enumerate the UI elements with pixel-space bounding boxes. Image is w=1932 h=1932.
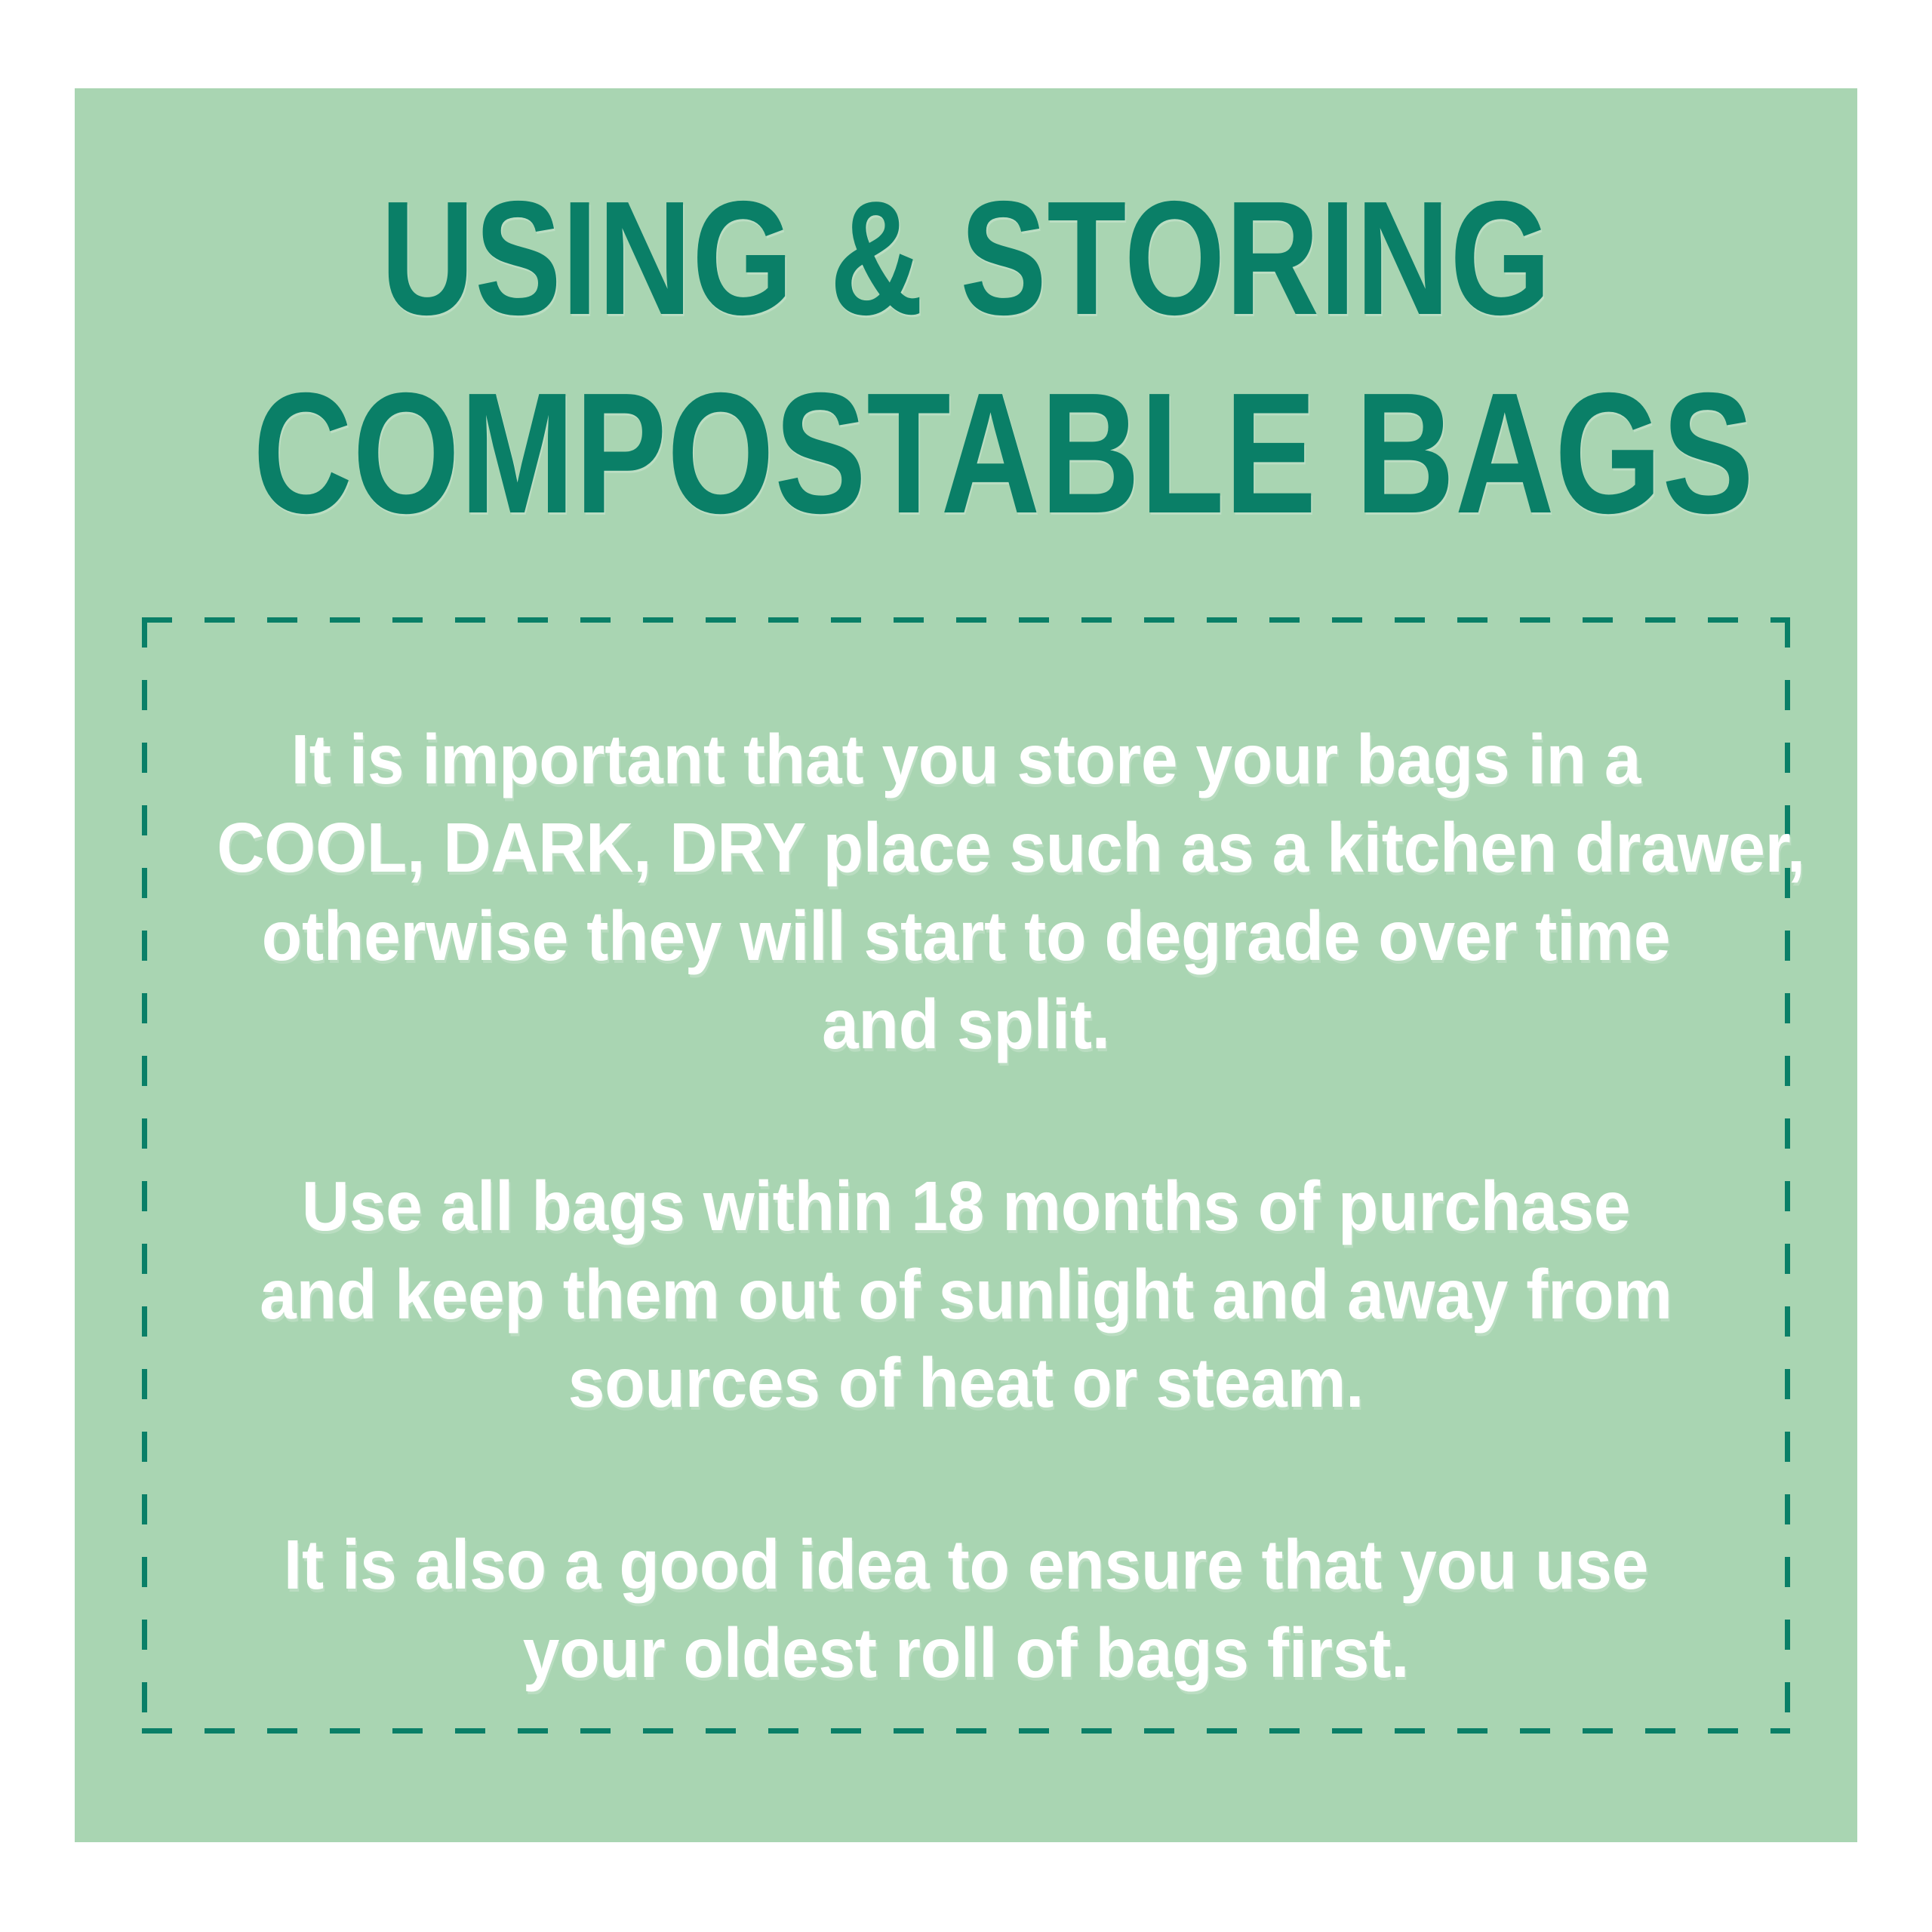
paragraph-line: It is also a good idea to ensure that yo… — [217, 1521, 1715, 1609]
page-title: USING & STORING COMPOSTABLE BAGS — [75, 164, 1857, 555]
poster-canvas: USING & STORING COMPOSTABLE BAGS It is i… — [0, 0, 1932, 1932]
paragraph-line: otherwise they will start to degrade ove… — [217, 892, 1715, 980]
paragraph-line: It is important that you store your bags… — [217, 715, 1715, 804]
paragraph-line: sources of heat or steam. — [217, 1339, 1715, 1427]
paragraph-line: COOL, DARK, DRY place such as a kitchen … — [217, 804, 1715, 892]
paragraph-shelf-life: Use all bags within 18 months of purchas… — [217, 1162, 1715, 1427]
paragraph-line: and split. — [217, 980, 1715, 1069]
paragraph-line: your oldest roll of bags first. — [217, 1609, 1715, 1697]
dashed-content-box: It is important that you store your bags… — [142, 617, 1790, 1734]
paragraph-line: Use all bags within 18 months of purchas… — [217, 1162, 1715, 1251]
page-title-line-1: USING & STORING — [253, 164, 1679, 352]
paragraph-storage-conditions: It is important that you store your bags… — [217, 715, 1715, 1069]
paragraph-rotation-advice: It is also a good idea to ensure that yo… — [217, 1521, 1715, 1697]
mint-green-card: USING & STORING COMPOSTABLE BAGS It is i… — [75, 88, 1857, 1842]
body-copy: It is important that you store your bags… — [142, 617, 1790, 1697]
page-title-line-2: COMPOSTABLE BAGS — [253, 352, 1679, 555]
paragraph-line: and keep them out of sunlight and away f… — [217, 1251, 1715, 1339]
